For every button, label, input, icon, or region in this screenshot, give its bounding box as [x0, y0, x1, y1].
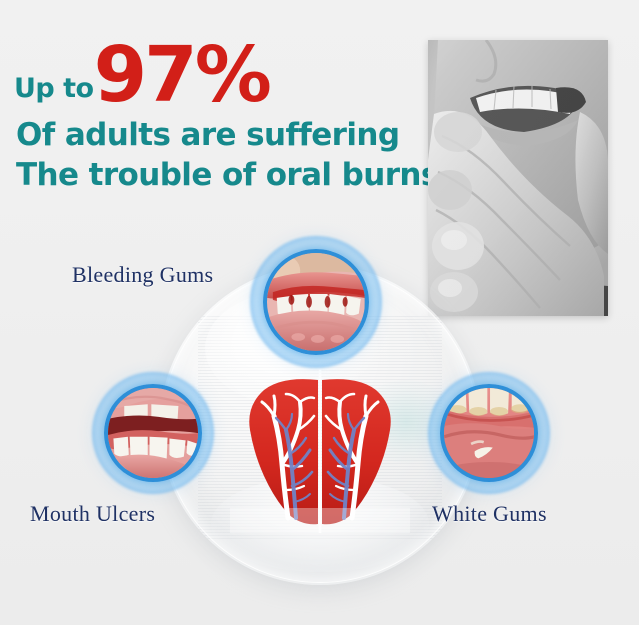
headline-percent-line: Up to 97%	[8, 38, 428, 110]
symptom-bubble-bleeding-gums[interactable]	[250, 236, 382, 368]
headline-line-2: Of adults are suffering	[8, 116, 428, 156]
white-gums-photo	[444, 388, 534, 478]
oral-health-infographic: Up to 97% Of adults are suffering The tr…	[0, 0, 639, 625]
headline-line-3: The trouble of oral burns	[8, 156, 428, 196]
headline-prefix: Up to	[8, 75, 94, 110]
symptom-bubble-white-gums[interactable]	[428, 372, 550, 494]
tooth-pulp-cross-section	[230, 368, 410, 533]
symptom-label-bleeding-gums: Bleeding Gums	[72, 262, 213, 288]
mouth-ulcers-photo	[108, 388, 198, 478]
symptom-bubble-mouth-ulcers[interactable]	[92, 372, 214, 494]
symptom-label-white-gums: White Gums	[432, 501, 547, 527]
symptom-label-mouth-ulcers: Mouth Ulcers	[30, 501, 155, 527]
headline-block: Up to 97% Of adults are suffering The tr…	[8, 38, 428, 195]
woman-covering-mouth-photo	[428, 40, 608, 316]
bleeding-gums-photo	[267, 253, 365, 351]
headline-percent-value: 97%	[94, 42, 269, 110]
